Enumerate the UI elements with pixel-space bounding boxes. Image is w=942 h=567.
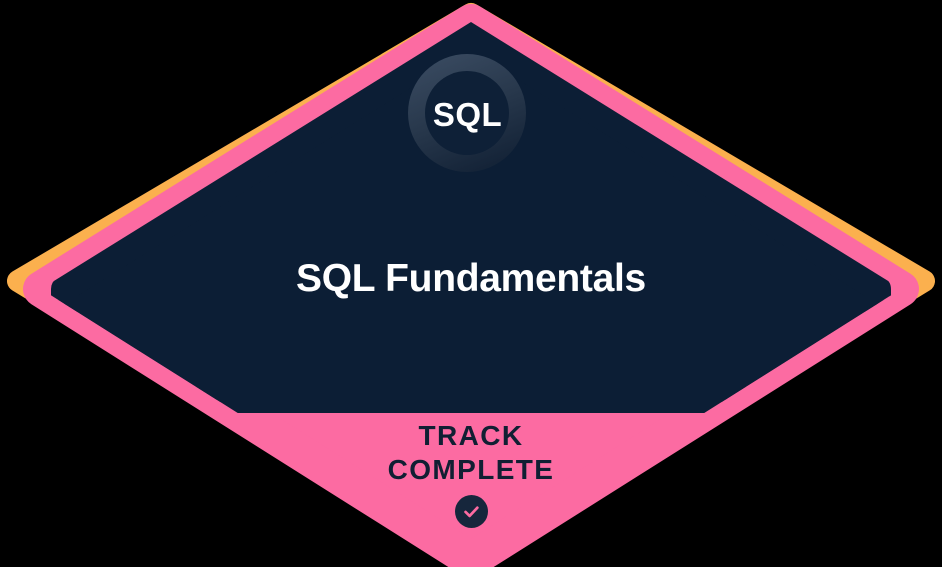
track-badge[interactable]: SQL SQL Fundamentals TRACK COMPLETE: [0, 0, 942, 567]
badge-shape-graphic: [0, 0, 942, 567]
sql-emblem-ring-shape: [408, 54, 526, 172]
